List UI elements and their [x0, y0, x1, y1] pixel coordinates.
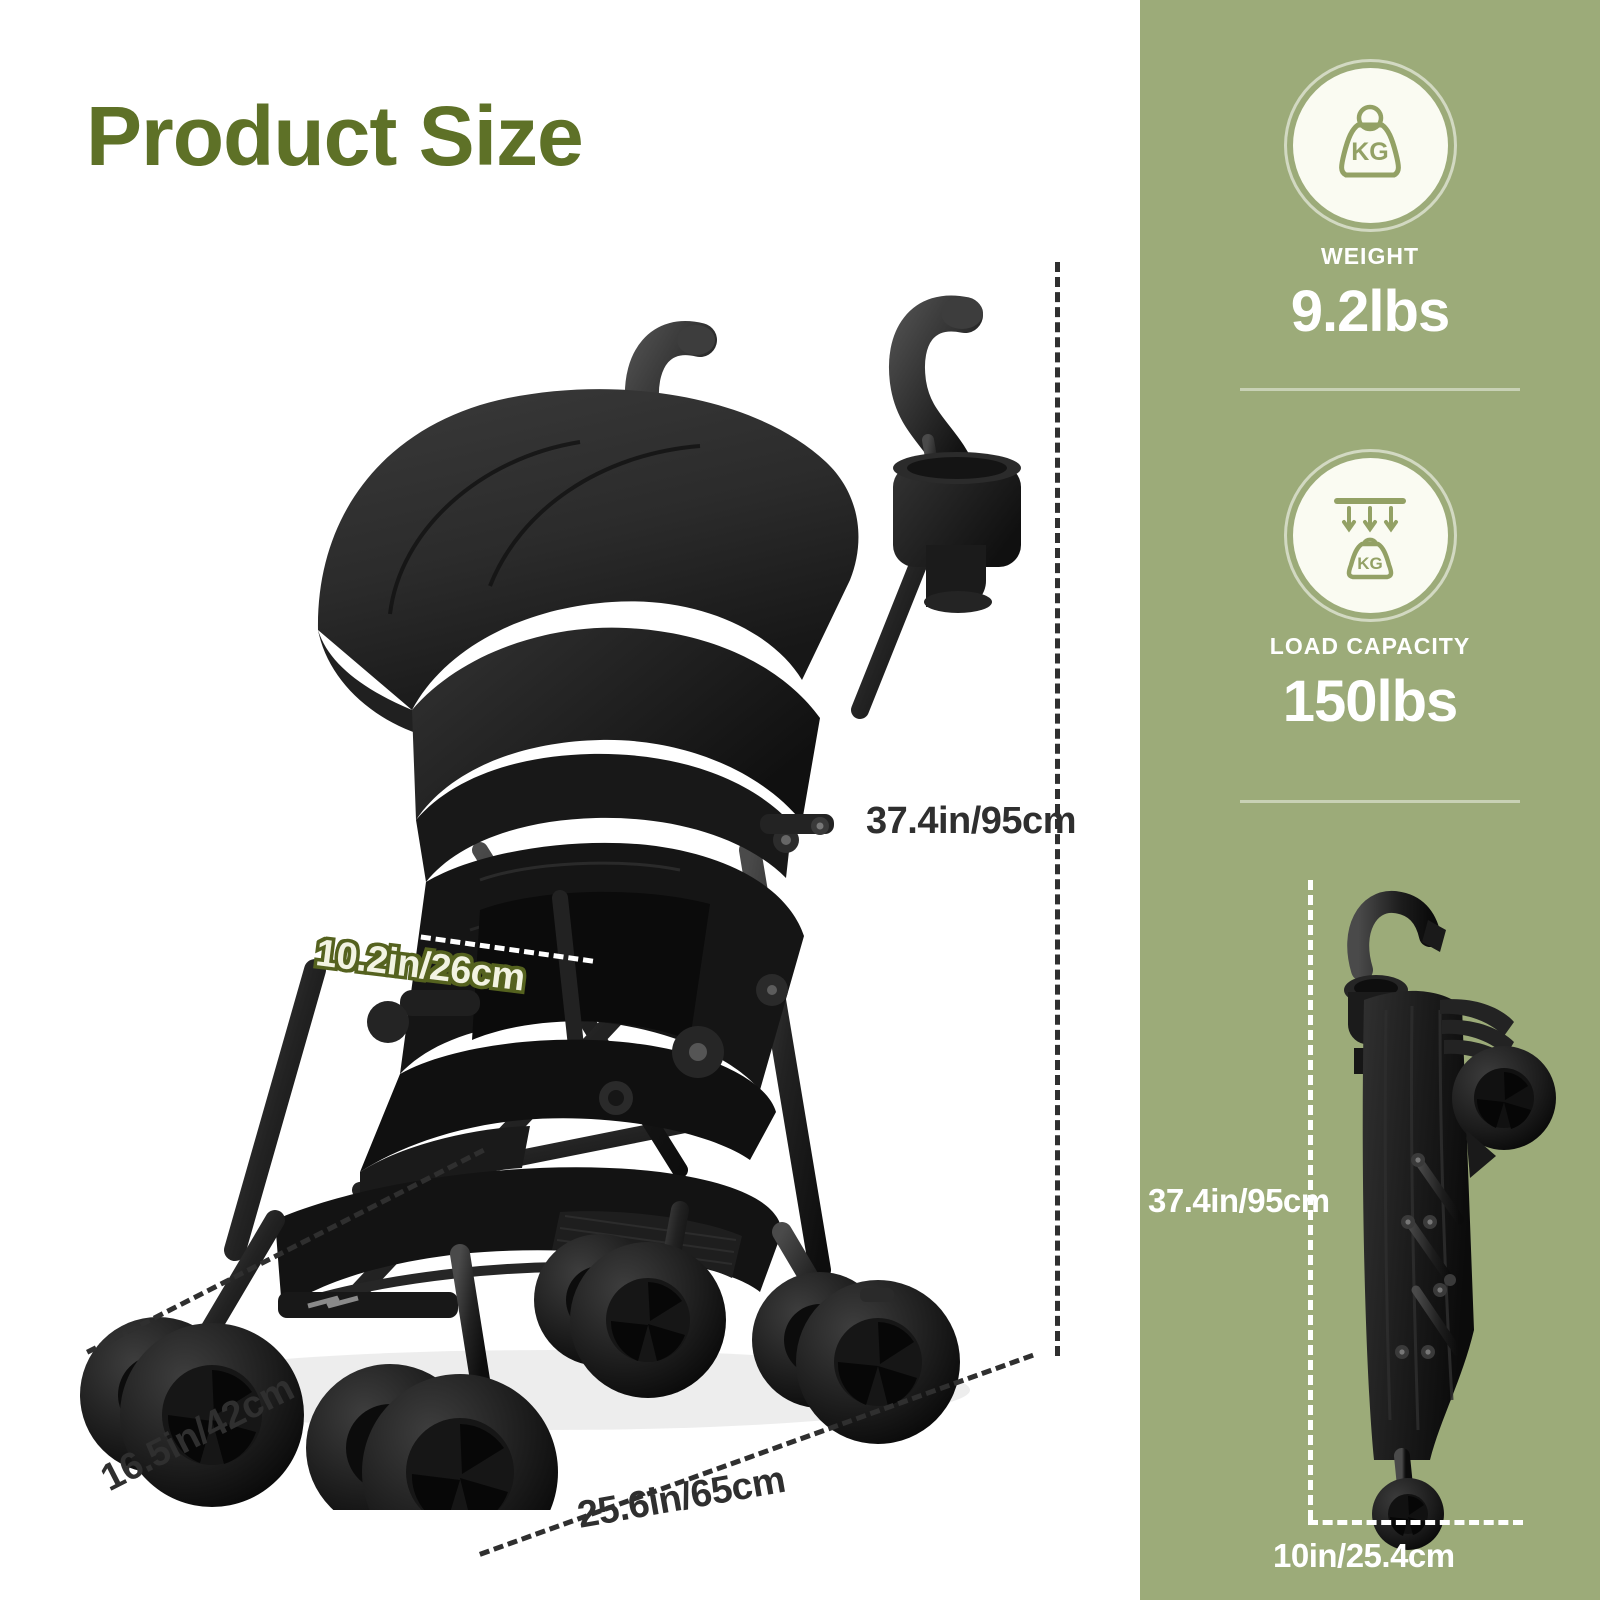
folded-height-dimension-label: 37.4in/95cm	[1148, 1182, 1330, 1220]
folded-width-dimension-line	[1308, 1520, 1523, 1525]
weight-icon-text: KG	[1351, 138, 1389, 166]
folded-stroller-image	[1290, 860, 1590, 1560]
stroller-product-image	[60, 210, 1100, 1510]
folded-width-dimension-label: 10in/25.4cm	[1273, 1537, 1455, 1575]
load-capacity-value: 150lbs	[1140, 668, 1600, 735]
panel-divider-1	[1240, 388, 1520, 391]
panel-divider-2	[1240, 800, 1520, 803]
spec-load-capacity: KG LOAD CAPACITY 150lbs	[1140, 458, 1600, 735]
load-capacity-icon-circle: KG	[1293, 458, 1448, 613]
main-product-panel: Product Size	[0, 0, 1140, 1600]
spec-side-panel: KG WEIGHT 9.2lbs	[1140, 0, 1600, 1600]
load-capacity-icon: KG	[1315, 481, 1425, 591]
spec-weight: KG WEIGHT 9.2lbs	[1140, 68, 1600, 345]
page-title: Product Size	[86, 88, 583, 185]
weight-kg-icon: KG	[1316, 92, 1424, 200]
weight-icon-circle: KG	[1293, 68, 1448, 223]
load-capacity-icon-text: KG	[1357, 554, 1383, 573]
weight-value: 9.2lbs	[1140, 278, 1600, 345]
height-dimension-label: 37.4in/95cm	[866, 800, 1076, 843]
product-size-infographic: Product Size	[0, 0, 1600, 1600]
weight-caption: WEIGHT	[1140, 243, 1600, 270]
load-capacity-caption: LOAD CAPACITY	[1140, 633, 1600, 660]
